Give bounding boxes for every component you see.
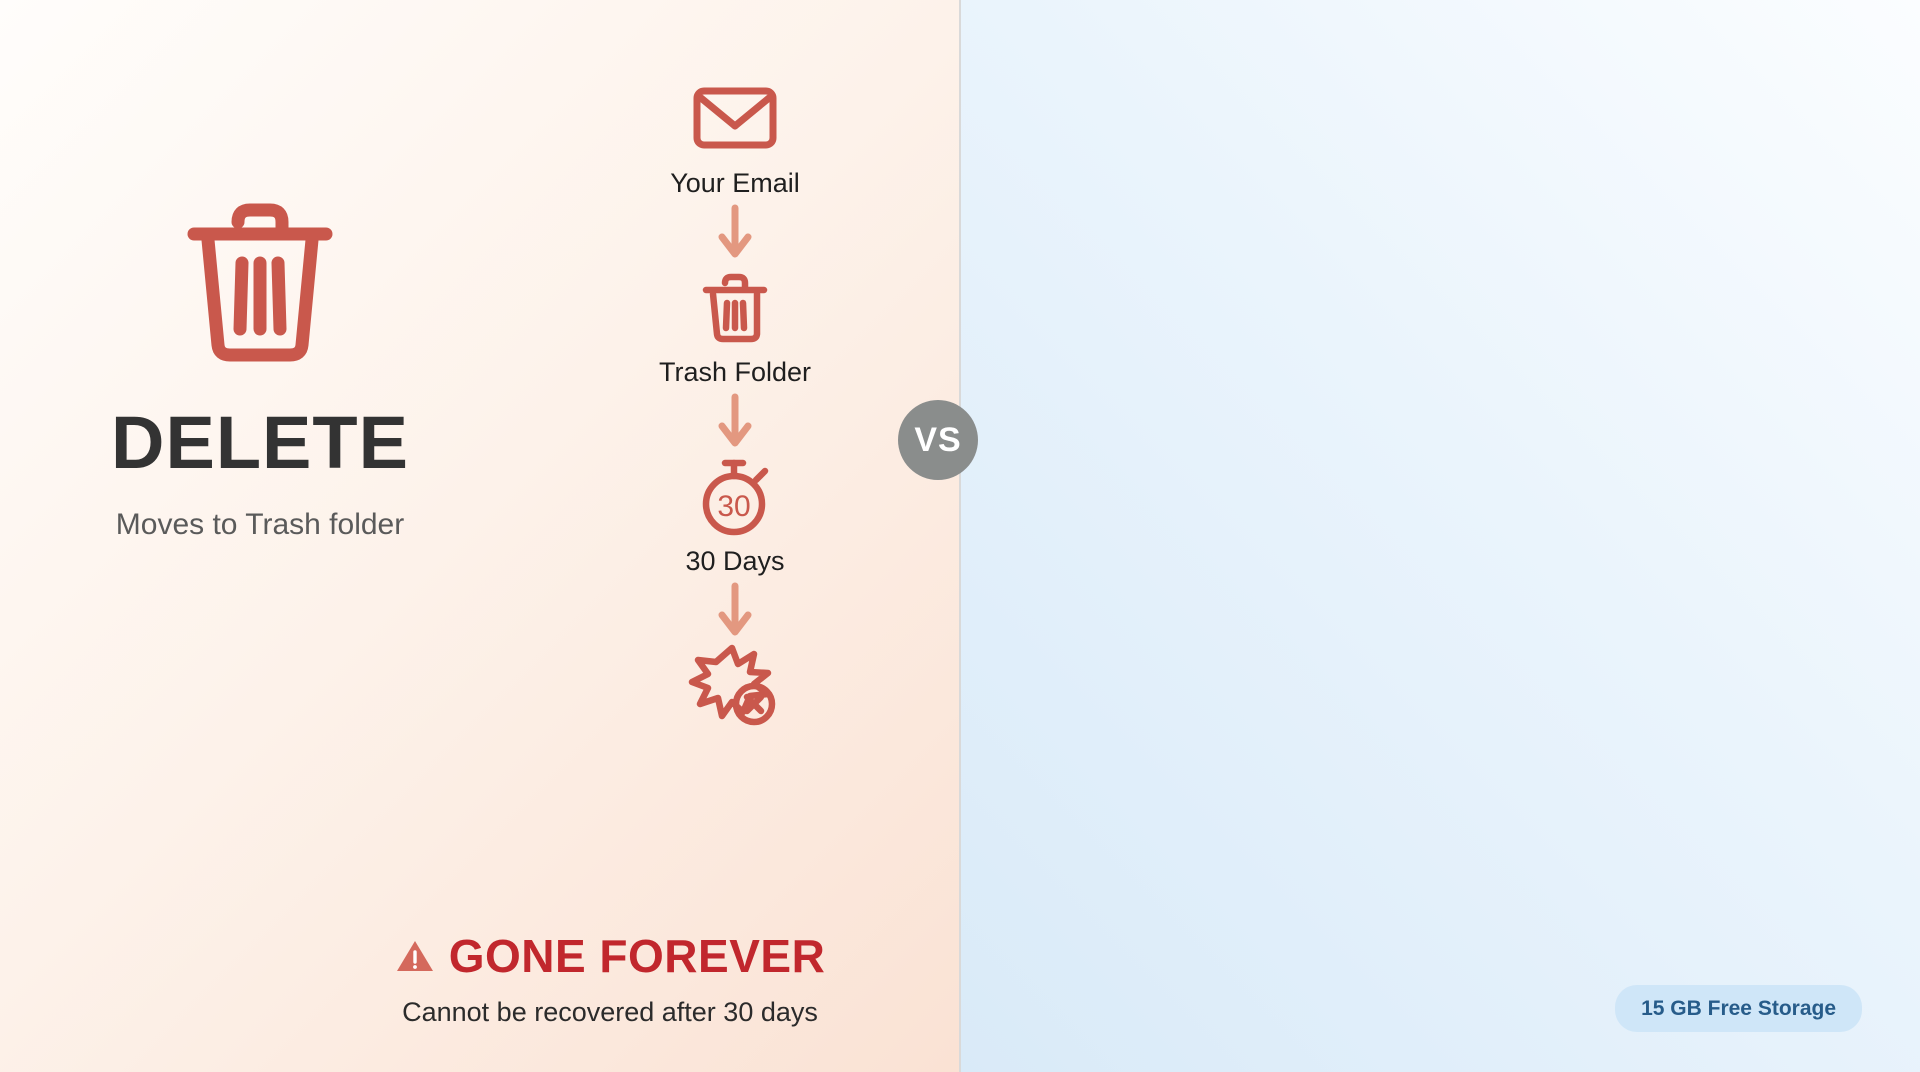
trash-can-icon: [699, 267, 771, 347]
delete-vs-archive-infographic: DELETE Moves to Trash folder Your Email: [0, 0, 1920, 1072]
panel-divider: [959, 0, 961, 1072]
delete-verdict-detail: Cannot be recovered after 30 days: [300, 999, 920, 1026]
delete-verdict: GONE FOREVER Cannot be recovered after 3…: [300, 933, 920, 1026]
flow-label-trash-folder: Trash Folder: [659, 359, 811, 386]
delete-subtitle: Moves to Trash folder: [40, 510, 480, 540]
trash-can-icon: [40, 190, 480, 370]
stopwatch-icon: 30: [694, 456, 776, 536]
delete-verdict-headline: GONE FOREVER: [449, 933, 826, 979]
delete-title: DELETE: [40, 406, 480, 480]
delete-flow: Your Email: [570, 78, 900, 725]
vs-badge: VS: [898, 400, 978, 480]
delete-hero: DELETE Moves to Trash folder: [40, 190, 480, 540]
delete-verdict-headline-row: GONE FOREVER: [300, 933, 920, 979]
delete-panel: DELETE Moves to Trash folder Your Email: [0, 0, 960, 1072]
envelope-icon: [692, 78, 778, 158]
stopwatch-day-count: 30: [717, 490, 750, 523]
arrow-down-icon: [718, 392, 752, 450]
warning-triangle-icon: [395, 938, 435, 974]
flow-label-30-days: 30 Days: [685, 548, 784, 575]
storage-badge: 15 GB Free Storage: [1615, 985, 1862, 1032]
flow-label-your-email: Your Email: [670, 170, 800, 197]
explosion-x-icon: [688, 645, 782, 725]
archive-panel: ARCHIVE Removes from Inbox Your Email: [960, 0, 1920, 1072]
arrow-down-icon: [718, 203, 752, 261]
arrow-down-icon: [718, 581, 752, 639]
